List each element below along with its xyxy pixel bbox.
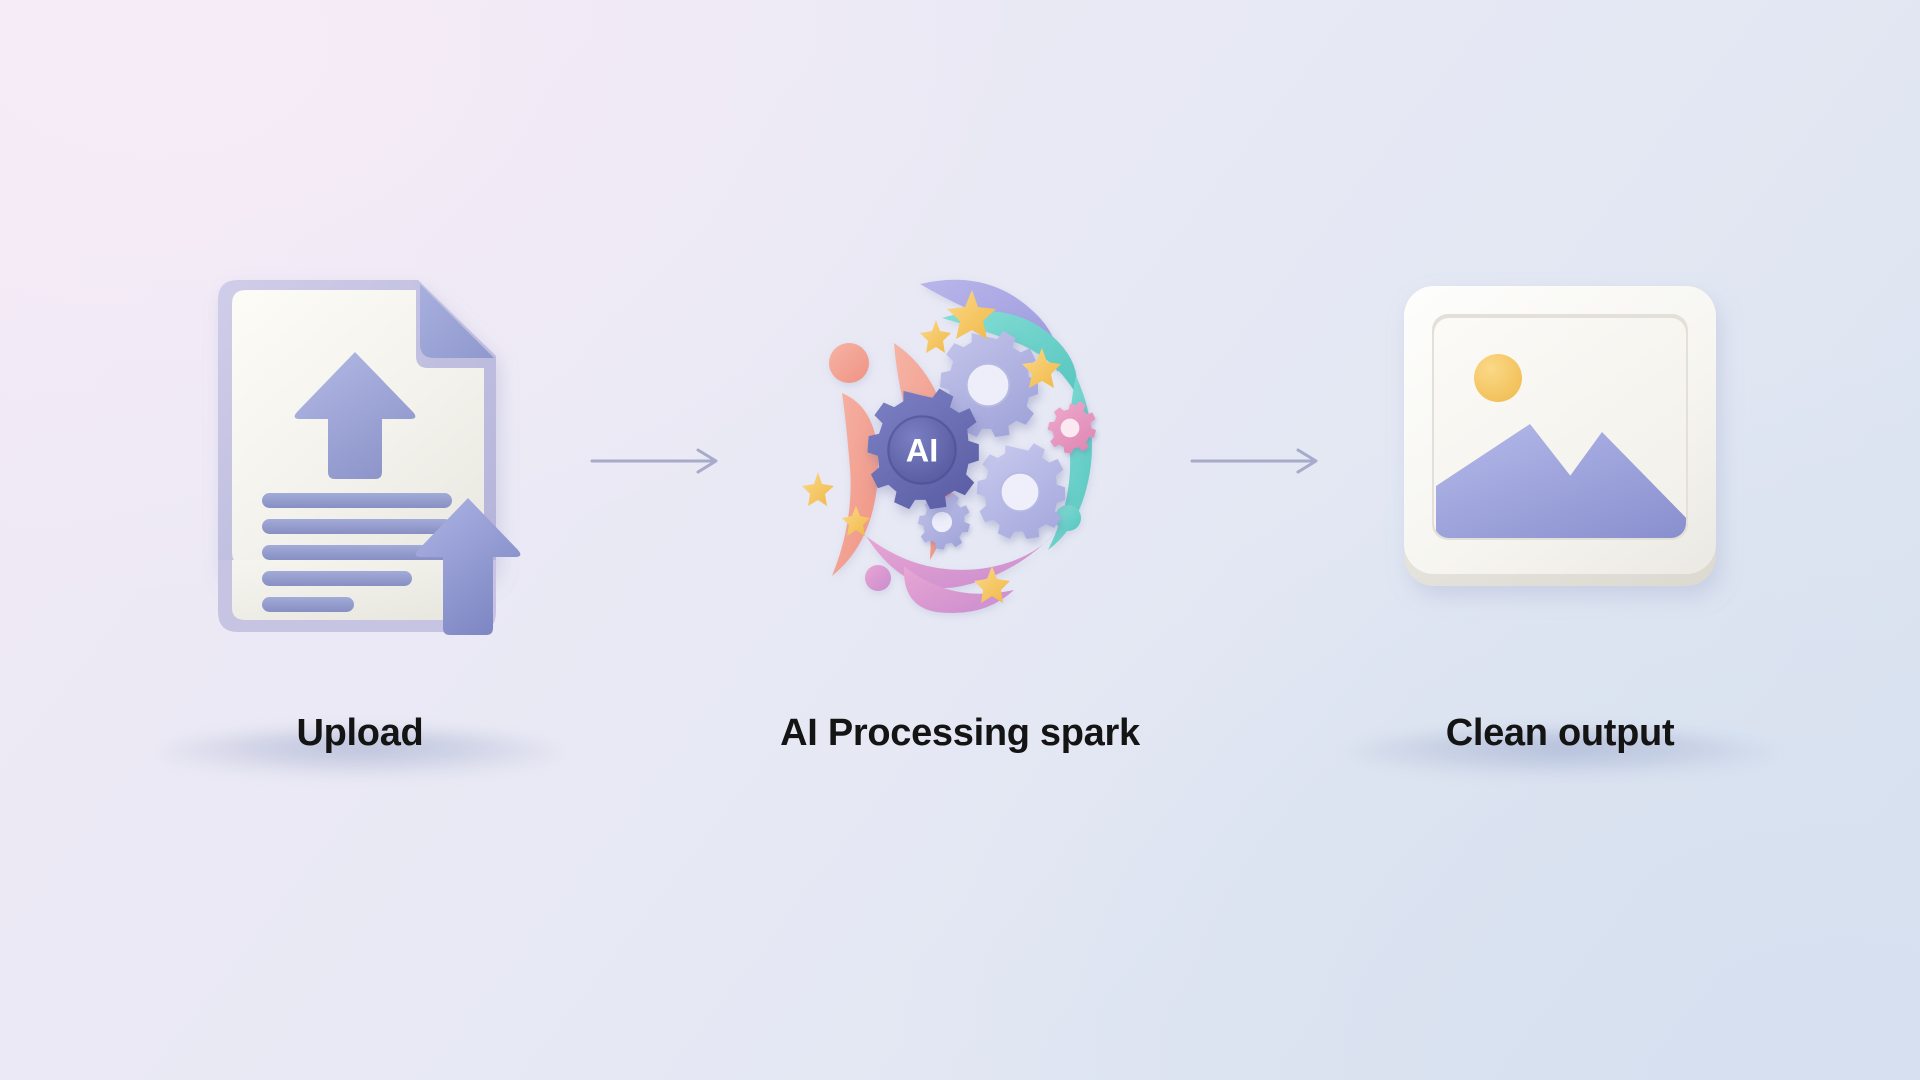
step-label-ai-processing: AI Processing spark xyxy=(750,712,1170,755)
pipeline-step-ai-processing[interactable]: AI AI Processing spark xyxy=(750,260,1170,820)
image-frame-svg xyxy=(1370,260,1750,660)
step-label-upload: Upload xyxy=(150,712,570,755)
sun-circle-icon xyxy=(1474,354,1522,402)
image-frame-icon xyxy=(1370,260,1750,660)
step-label-clean-output: Clean output xyxy=(1350,712,1770,755)
document-upload-overlay xyxy=(170,260,550,660)
ai-spark-svg: AI xyxy=(770,260,1150,660)
gear-bottom-right-icon xyxy=(977,443,1065,539)
document-upload-icon xyxy=(170,260,550,660)
ai-badge-label: AI xyxy=(906,433,938,469)
connector-1 xyxy=(570,260,750,820)
pipeline-step-clean-output[interactable]: Clean output xyxy=(1350,260,1770,820)
pipeline-row: Upload xyxy=(0,0,1920,1080)
pink-swirl-icon xyxy=(865,532,1056,613)
connector-2 xyxy=(1170,260,1350,820)
arrow-right-icon-1 xyxy=(590,448,730,474)
ai-gears-spark-icon: AI xyxy=(770,260,1150,660)
pipeline-step-upload[interactable]: Upload xyxy=(150,260,570,820)
arrow-right-icon-2 xyxy=(1190,448,1330,474)
